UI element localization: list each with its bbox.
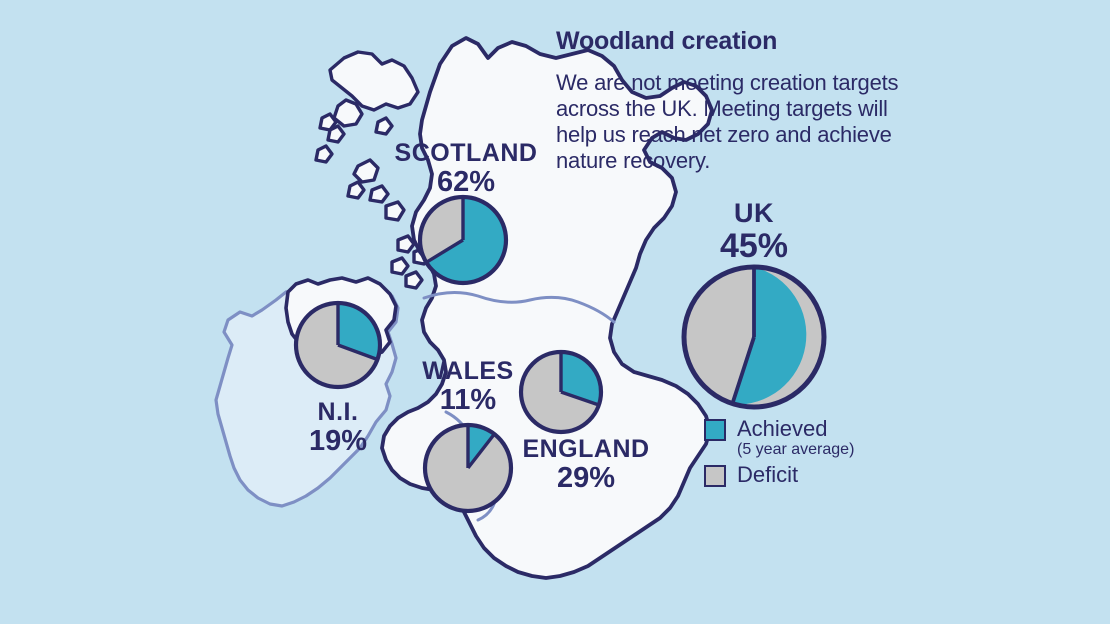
region-percent-uk: 45% bbox=[694, 229, 814, 263]
region-percent-northern-ireland: 19% bbox=[268, 427, 408, 456]
legend-label-achieved: Achieved bbox=[737, 417, 854, 441]
region-percent-wales: 11% bbox=[398, 386, 538, 415]
region-name-england: ENGLAND bbox=[496, 437, 676, 462]
region-name-scotland: SCOTLAND bbox=[376, 141, 556, 166]
label-england: ENGLAND 29% bbox=[496, 437, 676, 493]
page-title: Woodland creation bbox=[556, 27, 906, 56]
region-percent-scotland: 62% bbox=[376, 168, 556, 197]
legend-item-deficit: Deficit bbox=[704, 463, 854, 487]
legend-item-achieved: Achieved (5 year average) bbox=[704, 417, 854, 459]
text-layer: Woodland creation We are not meeting cre… bbox=[0, 0, 1110, 624]
legend-sublabel-achieved: (5 year average) bbox=[737, 441, 854, 459]
region-name-northern-ireland: N.I. bbox=[268, 400, 408, 425]
label-wales: WALES 11% bbox=[398, 359, 538, 415]
region-percent-england: 29% bbox=[496, 464, 676, 493]
legend-label-deficit: Deficit bbox=[737, 463, 798, 487]
label-uk: UK 45% bbox=[694, 200, 814, 263]
chart-legend: Achieved (5 year average) Deficit bbox=[704, 417, 854, 491]
label-scotland: SCOTLAND 62% bbox=[376, 141, 556, 197]
region-name-uk: UK bbox=[694, 200, 814, 227]
page-description: We are not meeting creation targets acro… bbox=[556, 70, 908, 174]
infographic-canvas: Woodland creation We are not meeting cre… bbox=[0, 0, 1110, 624]
achieved-swatch-icon bbox=[704, 419, 726, 441]
deficit-swatch-icon bbox=[704, 465, 726, 487]
region-name-wales: WALES bbox=[398, 359, 538, 384]
label-northern-ireland: N.I. 19% bbox=[268, 400, 408, 456]
